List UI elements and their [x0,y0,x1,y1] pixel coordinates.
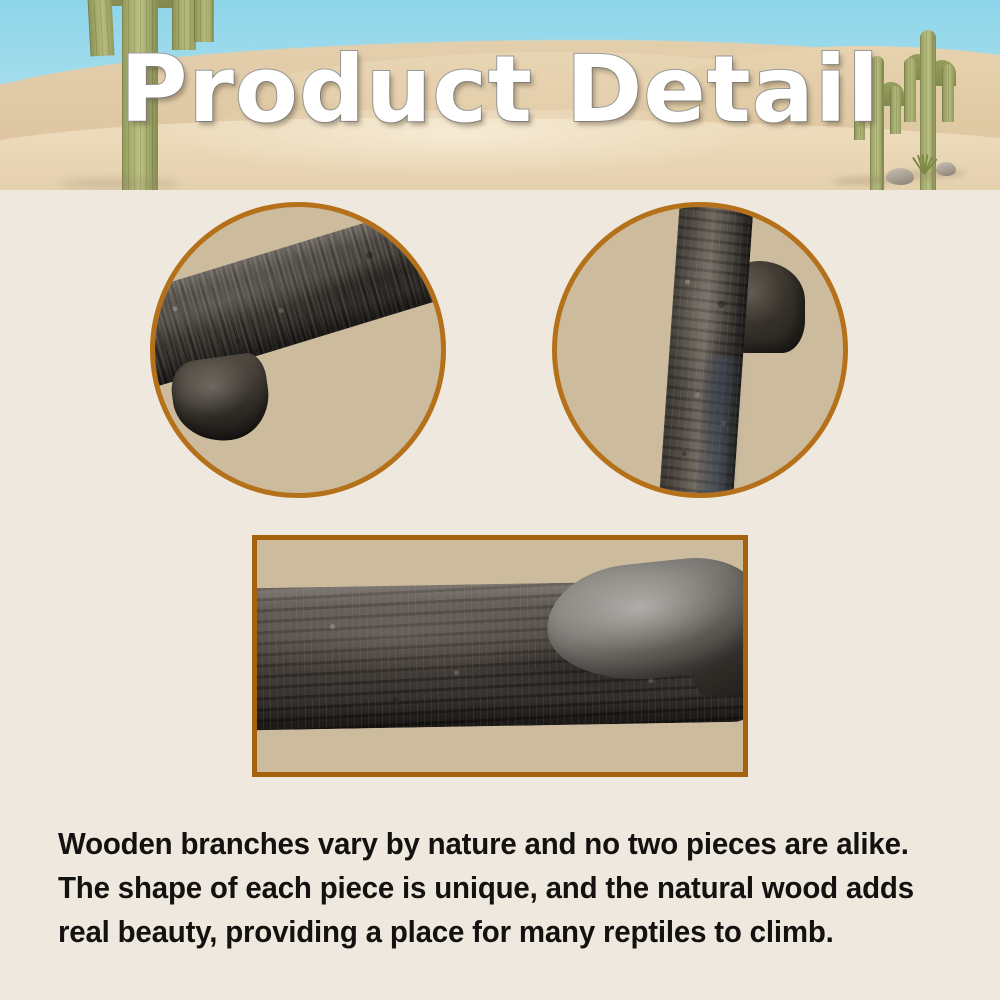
desert-rock-icon [886,168,914,185]
description-line-3: real beauty, providing a place for many … [58,910,913,954]
detail-photo-diagonal-branch[interactable] [150,202,446,498]
wood-bluish-sheen [693,356,746,498]
page-title: Product Detail [0,44,1000,136]
product-description: Wooden branches vary by nature and no tw… [58,822,913,954]
header-banner: Product Detail [0,0,1000,190]
cactus-shadow-left [60,178,180,189]
wood-knot-shape [168,351,275,448]
description-line-1: Wooden branches vary by nature and no tw… [58,822,913,866]
desert-rock-icon-2 [936,162,956,176]
product-image-gallery [0,190,1000,790]
product-detail-page: Product Detail Wooden branches vary by [0,0,1000,1000]
detail-photo-log-full[interactable] [252,535,748,777]
detail-photo-vertical-branch[interactable] [552,202,848,498]
description-line-2: The shape of each piece is unique, and t… [58,866,913,910]
desert-grass-tuft-icon [912,152,936,174]
